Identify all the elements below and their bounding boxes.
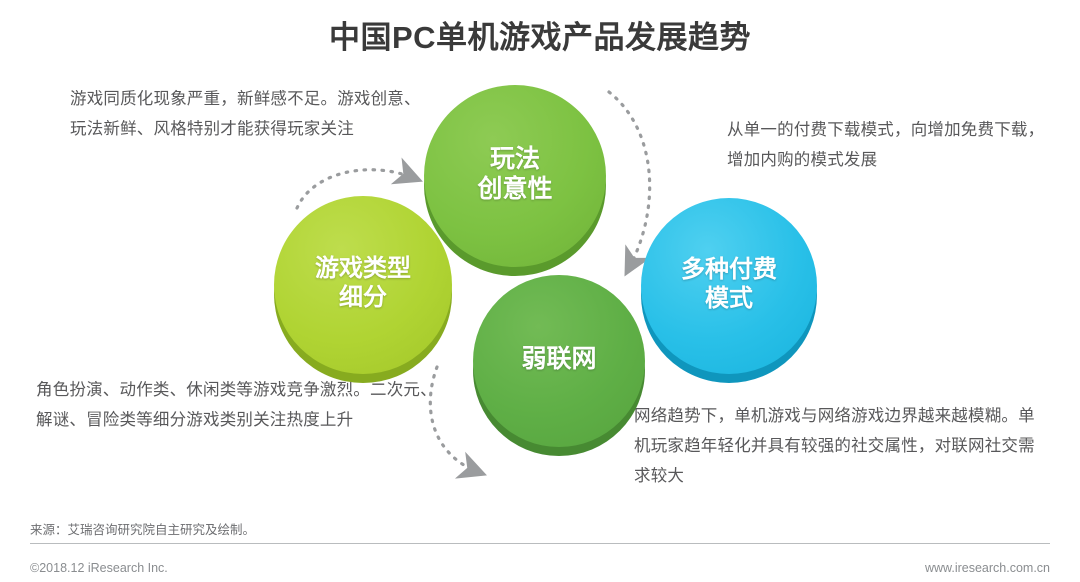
bubble-payment-label: 多种付费 模式 [681, 255, 777, 318]
bubble-weak-network[interactable]: 弱联网 [473, 275, 645, 447]
bubble-game-genre[interactable]: 游戏类型 细分 [274, 196, 452, 374]
connector-gameplay-to-payment [609, 92, 650, 268]
bubble-payment-models[interactable]: 多种付费 模式 [641, 198, 817, 374]
website-url: www.iresearch.com.cn [925, 561, 1050, 575]
title-bar: 中国PC单机游戏产品发展趋势 [0, 0, 1080, 68]
bubble-payment-label-line1: 多种付费 [681, 256, 777, 283]
bubble-gameplay-label-line1: 玩法 [490, 145, 540, 173]
bubble-network-label-line1: 弱联网 [521, 345, 596, 373]
bubble-genre-label-line1: 游戏类型 [315, 255, 411, 282]
copyright-text: ©2018.12 iResearch Inc. [30, 561, 168, 575]
bubble-network-label: 弱联网 [521, 344, 596, 379]
page-title: 中国PC单机游戏产品发展趋势 [329, 12, 751, 57]
bubble-payment-label-line2: 模式 [705, 285, 753, 312]
note-top-right: 从单一的付费下载模式，向增加免费下载，增加内购的模式发展 [727, 115, 1057, 175]
bubble-gameplay-creativity[interactable]: 玩法 创意性 [424, 85, 606, 267]
footer-bar: ©2018.12 iResearch Inc. www.iresearch.co… [0, 553, 1080, 582]
source-note: 来源：艾瑞咨询研究院自主研究及绘制。 [30, 519, 1050, 544]
bubble-genre-label-line2: 细分 [339, 284, 387, 311]
bubble-gameplay-label: 玩法 创意性 [477, 144, 552, 209]
note-bottom-right: 网络趋势下，单机游戏与网络游戏边界越来越模糊。单机玩家趋年轻化并具有较强的社交属… [634, 401, 1046, 491]
bubble-gameplay-label-line2: 创意性 [477, 175, 552, 203]
note-top-left: 游戏同质化现象严重，新鲜感不足。游戏创意、玩法新鲜、风格特别才能获得玩家关注 [70, 84, 422, 144]
bubble-genre-label: 游戏类型 细分 [315, 254, 411, 317]
note-bottom-left: 角色扮演、动作类、休闲类等游戏竞争激烈。二次元、解谜、冒险类等细分游戏类别关注热… [36, 375, 452, 435]
diagram-canvas: 游戏类型 细分 玩法 创意性 弱联网 多种付费 模式 游戏同质化现象严重，新鲜感… [0, 68, 1080, 518]
